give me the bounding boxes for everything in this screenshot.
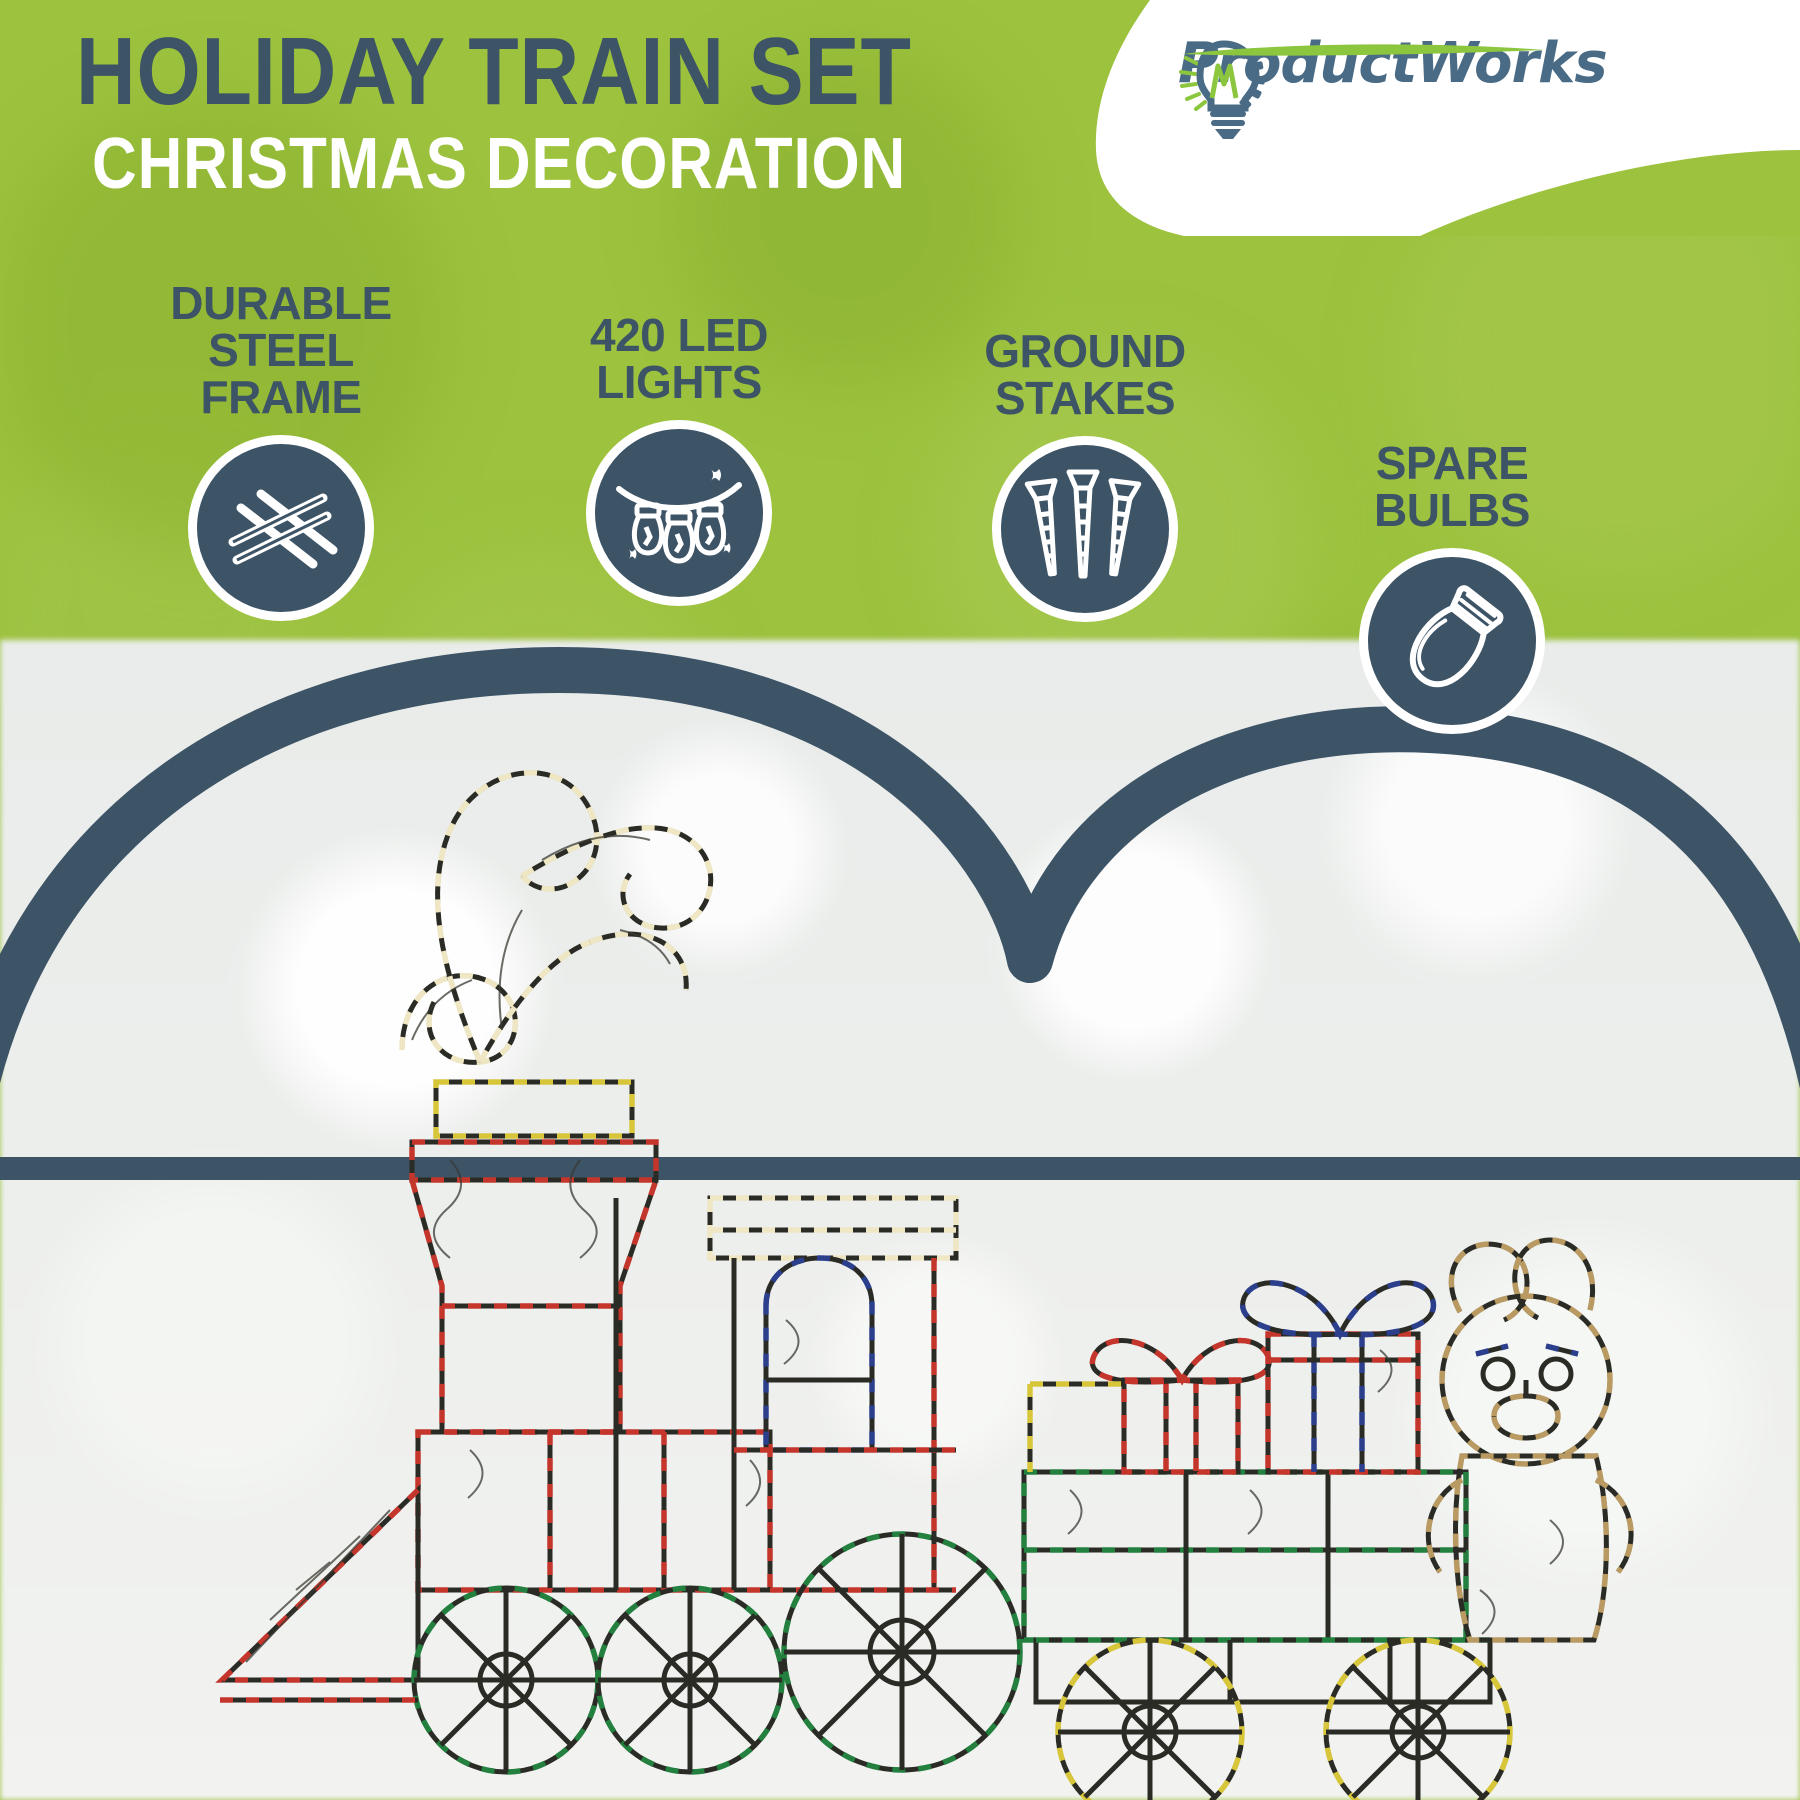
gift-box-blue-bow (1243, 1283, 1434, 1472)
feature-badge (992, 436, 1178, 622)
feature-label: DURABLE STEEL FRAME (86, 280, 476, 421)
gift-car (1024, 1240, 1631, 1800)
smoke-swirls (402, 773, 711, 1063)
feature-label: 420 LED LIGHTS (500, 312, 858, 406)
gift-box-red (1030, 1341, 1269, 1472)
locomotive (220, 1082, 1020, 1772)
page-title: HOLIDAY TRAIN SET CHRISTMAS DECORATION (76, 28, 1036, 199)
feature-ground-stakes: GROUND STAKES (905, 328, 1265, 622)
locomotive-wheels (414, 1534, 1020, 1772)
train-wireframe: .wire { fill:none; stroke:#2b2b26; strok… (150, 690, 1710, 1800)
product-infographic: HOLIDAY TRAIN SET CHRISTMAS DECORATION (0, 0, 1800, 1800)
feature-led-lights: 420 LED LIGHTS (500, 312, 858, 606)
title-main: HOLIDAY TRAIN SET (76, 28, 902, 116)
product-photo-train: .wire { fill:none; stroke:#2b2b26; strok… (150, 690, 1710, 1800)
christmas-bulb-icon (1388, 577, 1516, 705)
gift-car-wheels (1058, 1640, 1510, 1800)
ground-stakes-icon (1021, 464, 1149, 594)
brand-logo: ProductWorks (1060, 0, 1800, 236)
teddy-bear (1428, 1240, 1631, 1640)
feature-label: GROUND STAKES (905, 328, 1265, 422)
title-sub: CHRISTMAS DECORATION (92, 130, 904, 198)
feature-steel-frame: DURABLE STEEL FRAME (86, 280, 476, 621)
string-lights-icon (613, 449, 745, 577)
feature-label: SPARE BULBS (1270, 440, 1634, 534)
logo-swoosh-icon (1178, 40, 1548, 60)
wire-tangles (434, 1160, 1563, 1634)
crossed-steel-rods-icon (217, 464, 345, 592)
feature-badge (188, 435, 374, 621)
feature-badge (586, 420, 772, 606)
